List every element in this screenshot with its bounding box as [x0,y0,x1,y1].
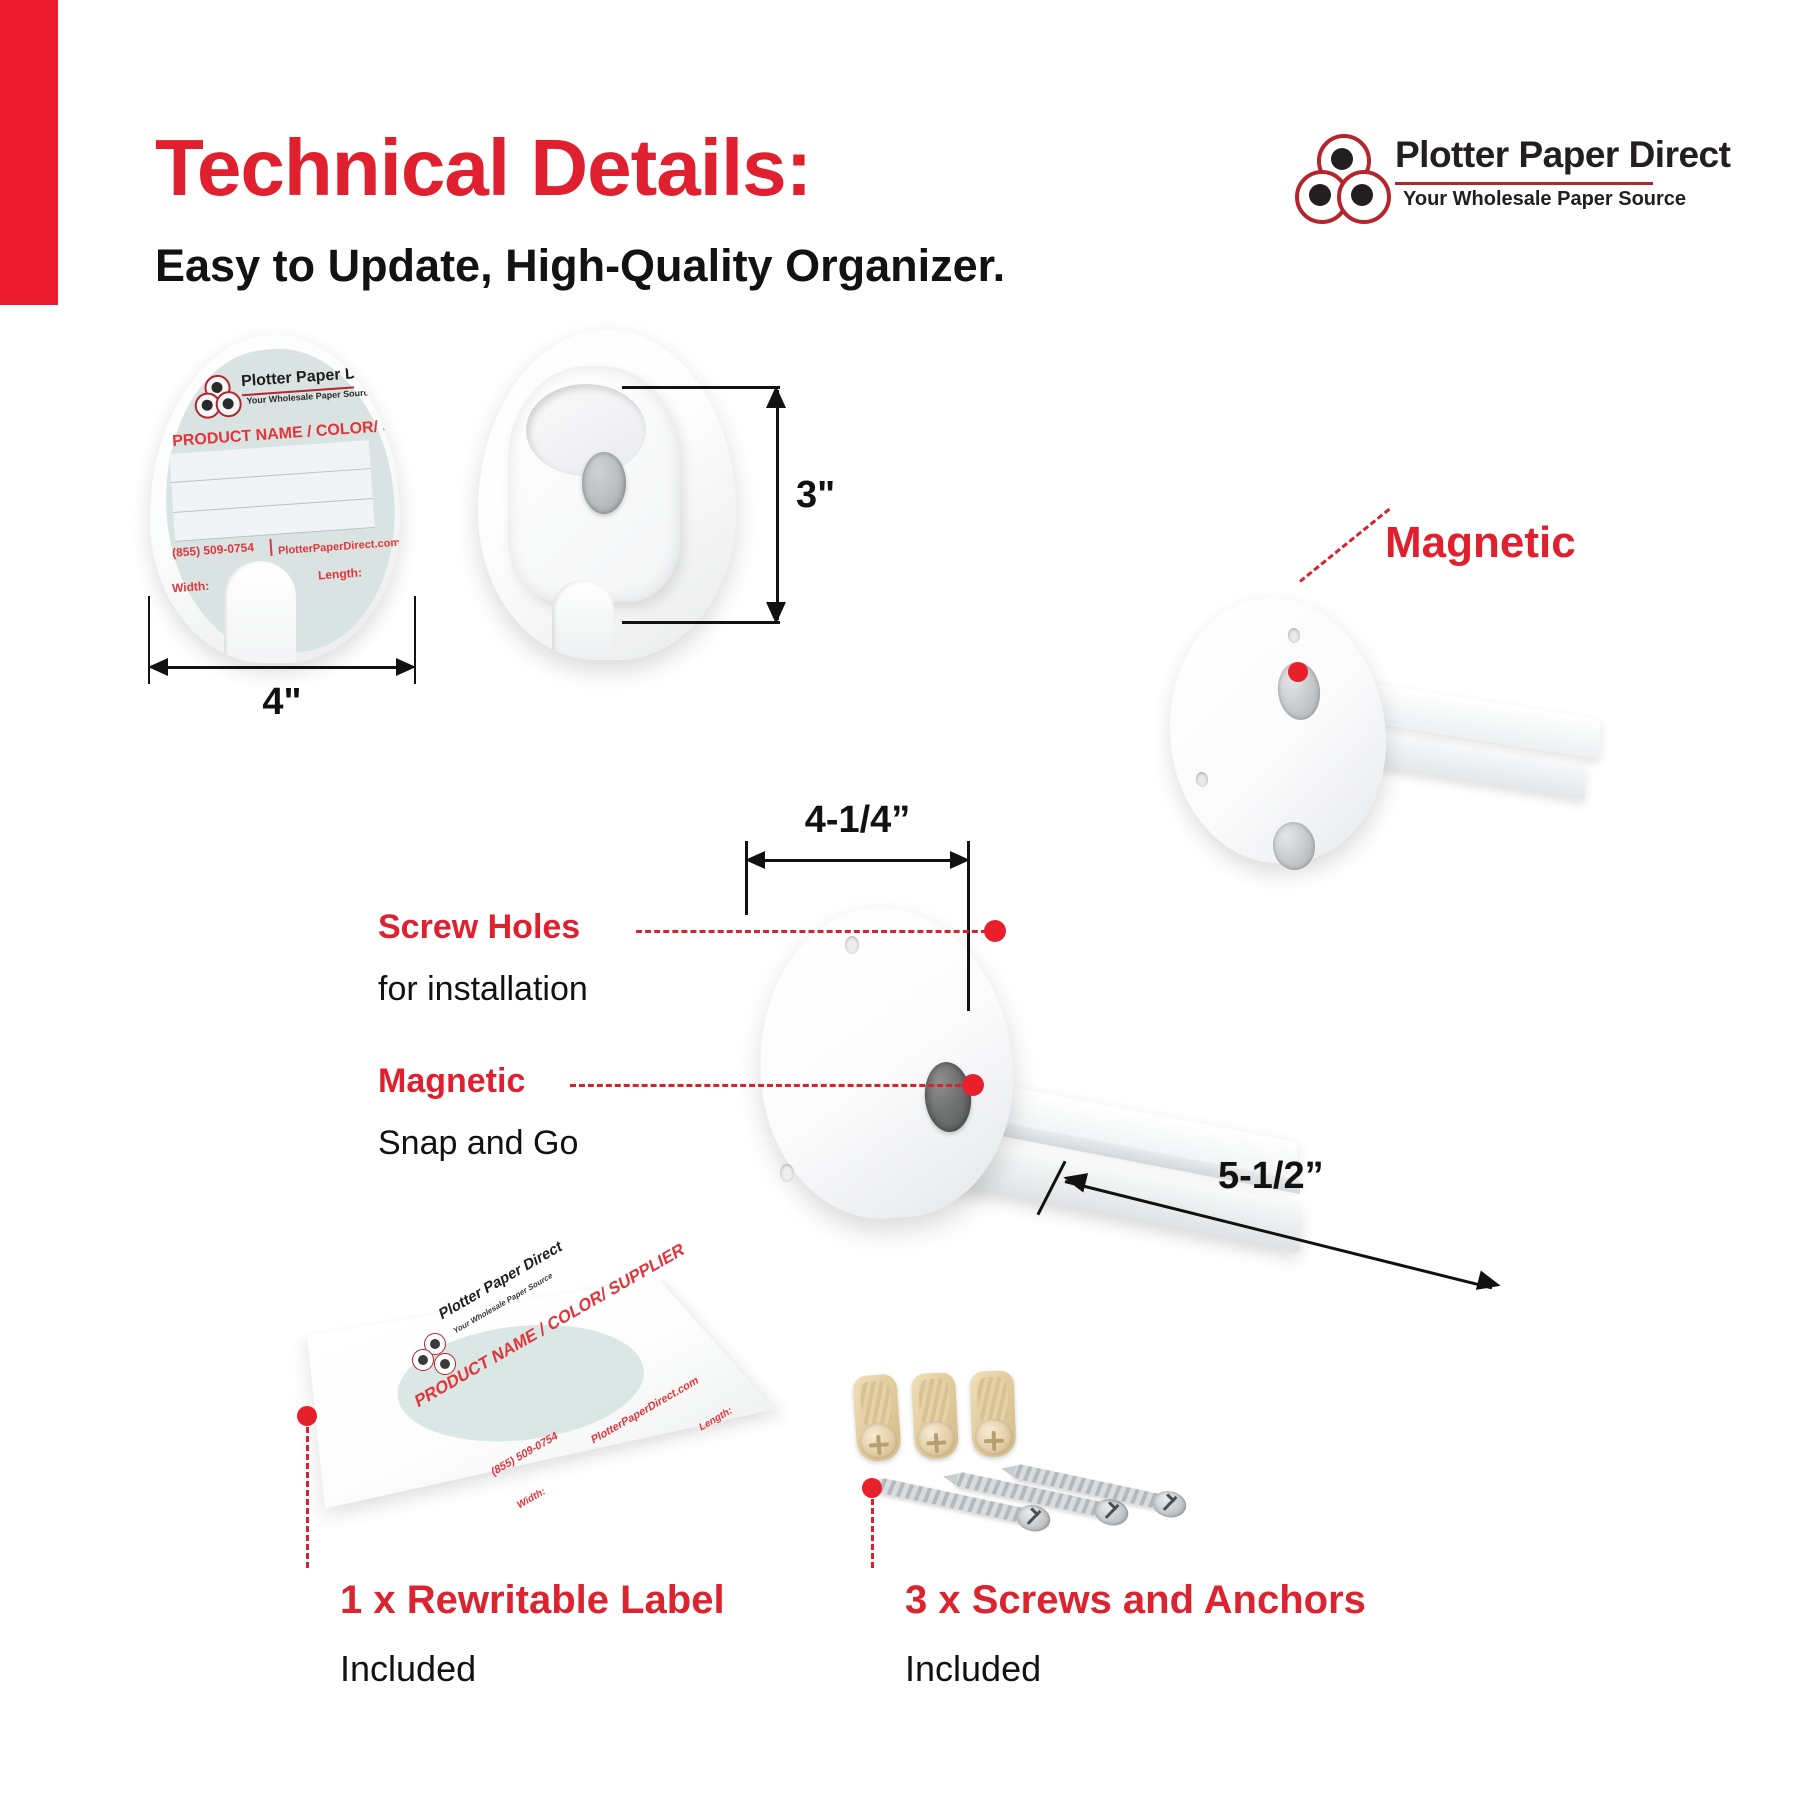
rewritable-label-sheet: Plotter Paper Direct Your Wholesale Pape… [320,1245,750,1545]
three-paper-rolls-icon [1295,134,1387,222]
wall-anchor [911,1372,959,1460]
callout-dot [1288,662,1308,682]
callout-leader-line [1299,508,1390,583]
included-item-status: Included [340,1648,476,1690]
callout-magnetic-title: Magnetic [378,1062,525,1101]
screw-hole [845,936,859,954]
callout-screw-holes-sub: for installation [378,970,588,1009]
dimension-label-4in: 4" [148,681,416,724]
brand-tagline: Your Wholesale Paper Source [1403,188,1686,211]
dimension-label-3in: 3" [796,474,835,517]
callout-leader-line [306,1418,309,1568]
callout-magnetic-right: Magnetic [1385,518,1576,568]
callout-dot [984,920,1006,942]
callout-leader-line [871,1490,874,1568]
callout-magnetic-sub: Snap and Go [378,1124,578,1163]
callout-leader-line [636,930,996,933]
magnet-disc [582,452,626,514]
paper-roll-icon [215,390,243,418]
page-subtitle: Easy to Update, High-Quality Organizer. [155,240,1005,292]
callout-screw-holes-title: Screw Holes [378,908,580,947]
brand-logo: Plotter Paper Direct Your Wholesale Pape… [1295,130,1655,225]
screw-hole [780,1164,794,1182]
callout-dot [962,1074,984,1096]
dimension-plate-width: 4-1/4” [745,815,970,915]
sheet-width-field: Width: [516,1486,546,1512]
brand-divider [1395,182,1653,185]
dimension-label-4-1-4in: 4-1/4” [745,799,970,842]
paper-roll-icon [1337,170,1391,224]
infographic-canvas: Technical Details: Easy to Update, High-… [0,0,1801,1801]
paper-roll-icon [412,1349,434,1371]
accent-bar [0,0,58,305]
wall-anchor [852,1374,902,1463]
bracket-main-view [740,880,1360,1310]
dimension-label-5-1-2in: 5-1/2” [1218,1155,1324,1198]
included-item-title: 3 x Screws and Anchors [905,1578,1366,1623]
wall-anchor [970,1370,1017,1457]
included-item-title: 1 x Rewritable Label [340,1578,725,1623]
disc-width-field: Width: [172,579,210,596]
callout-leader-line [570,1084,970,1087]
disc-write-lines [169,440,375,542]
dimension-disc-width: 4" [148,596,416,714]
bracket-angled-view [1160,590,1590,890]
dimension-disc-height: 3" [700,386,850,624]
page-title: Technical Details: [155,122,811,214]
hardware-group [855,1375,1175,1545]
bracket-hook-inner [526,384,646,476]
included-item-status: Included [905,1648,1041,1690]
brand-name: Plotter Paper Direct [1395,134,1730,176]
bracket-front-view [478,330,736,660]
bracket-notch [552,580,614,660]
